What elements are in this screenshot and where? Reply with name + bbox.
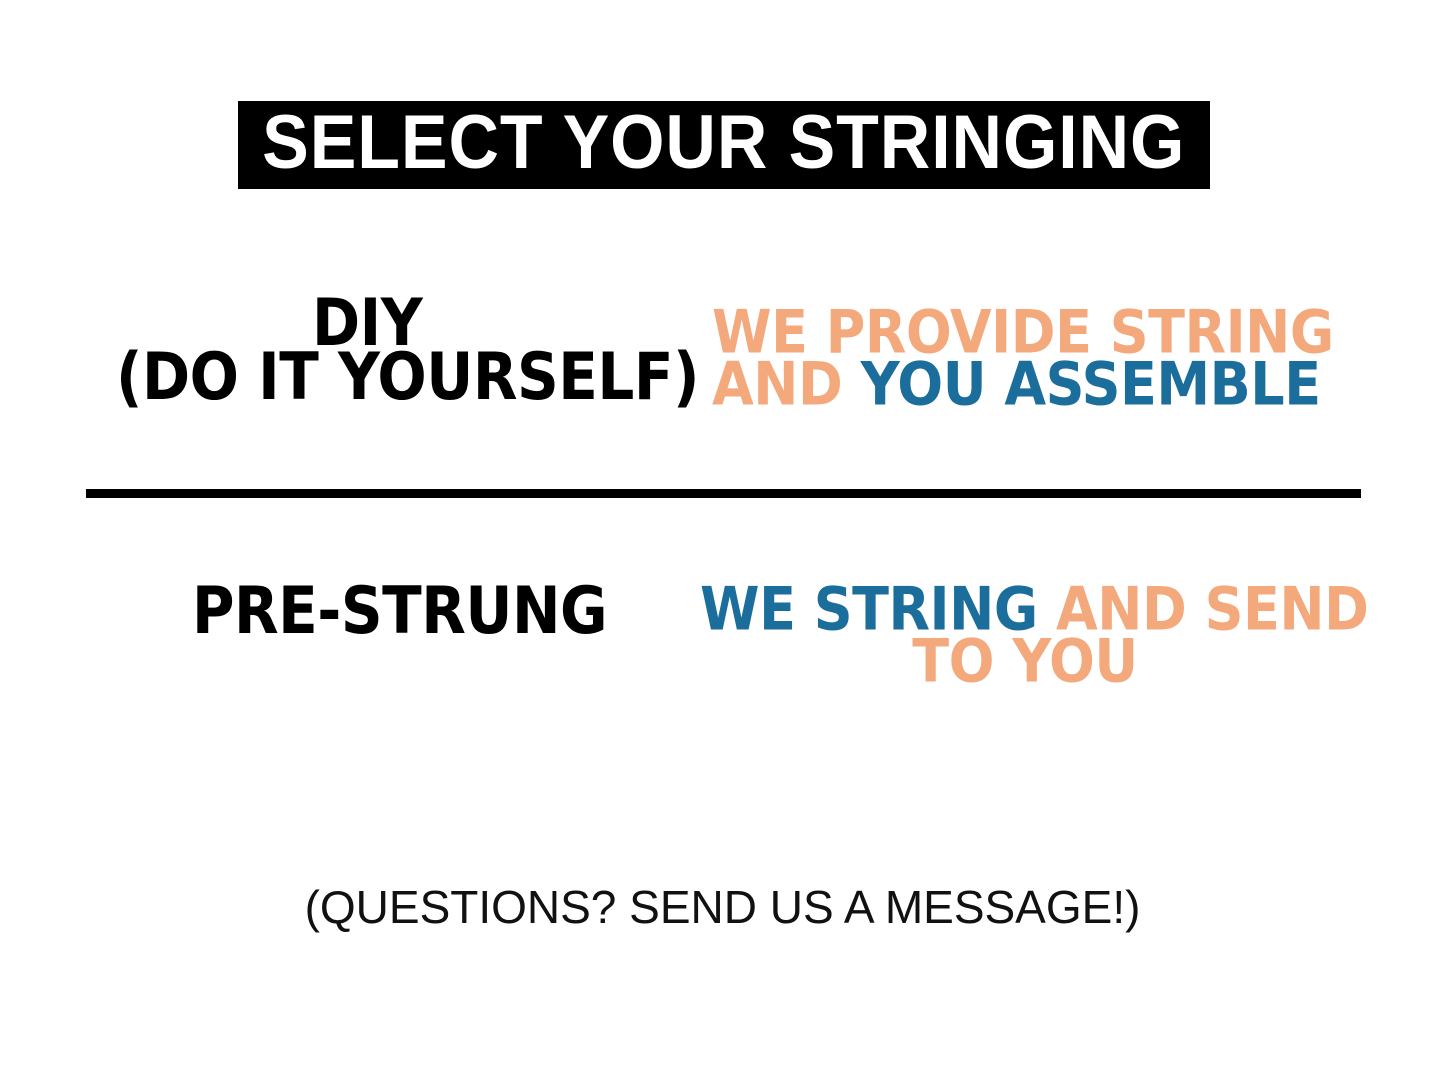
option-prestrung-desc-to-you: TO YOU [912,627,1137,696]
option-diy-desc-you-assemble: YOU ASSEMBLE [861,350,1321,419]
page-title: SELECT YOUR STRINGING [262,105,1185,185]
page-title-banner: SELECT YOUR STRINGING [238,101,1210,189]
option-diy-desc-and: AND [712,350,842,419]
option-prestrung-description: WE STRING AND SEND TO YOU [700,580,1350,720]
footer-note: (QUESTIONS? SEND US A MESSAGE!) [0,880,1445,934]
option-prestrung-label: PRE-STRUNG [192,578,607,643]
slide-canvas: SELECT YOUR STRINGING DIY (DO IT YOURSEL… [0,0,1445,1084]
option-prestrung-desc-line2: TO YOU [700,632,1350,691]
option-diy-label-line2: (DO IT YOURSELF) [116,344,699,409]
option-diy-desc-line2: AND YOU ASSEMBLE [712,355,1321,414]
option-diy-description: WE PROVIDE STRING AND YOU ASSEMBLE [712,303,1332,433]
option-diy-label-group: DIY (DO IT YOURSELF) [0,290,690,420]
section-divider [86,489,1361,498]
option-prestrung-label-group: PRE-STRUNG [0,578,690,658]
